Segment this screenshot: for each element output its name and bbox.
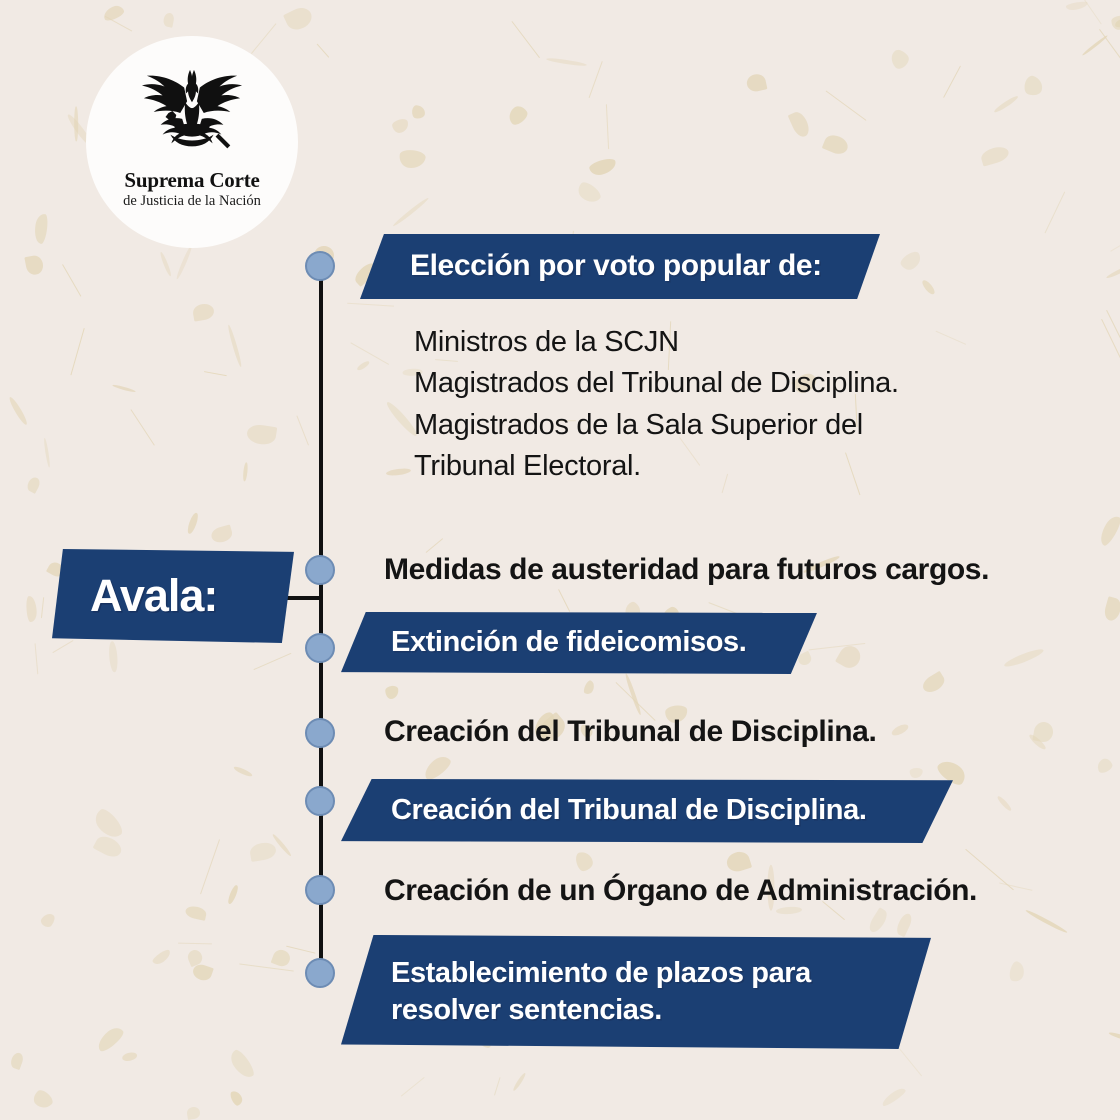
- background-fleck: [1082, 35, 1109, 57]
- timeline-item-eleccion: Elección por voto popular de:: [360, 234, 880, 299]
- background-fleck: [227, 1048, 257, 1082]
- sublist-item: Magistrados del Tribunal de Disciplina.: [414, 363, 1054, 404]
- background-fleck: [175, 244, 193, 279]
- background-fleck: [421, 753, 454, 783]
- background-fleck: [90, 806, 124, 843]
- background-fleck: [347, 302, 394, 306]
- timeline-item-medidas: Medidas de austeridad para futuros cargo…: [384, 550, 1084, 589]
- background-fleck: [71, 328, 86, 375]
- timeline-item-plazos-label: Establecimiento de plazos para resolver …: [391, 955, 811, 1029]
- timeline-dot-eleccion: [305, 251, 335, 281]
- background-fleck: [512, 1072, 527, 1091]
- background-fleck: [296, 416, 309, 446]
- background-fleck: [1099, 29, 1120, 78]
- background-fleck: [386, 467, 412, 477]
- background-fleck: [788, 110, 812, 140]
- background-fleck: [920, 279, 936, 296]
- background-fleck: [227, 325, 243, 368]
- background-fleck: [1024, 908, 1068, 934]
- timeline-item-creacion-tribunal-2-label: Creación del Tribunal de Disciplina.: [391, 792, 867, 829]
- background-fleck: [397, 148, 426, 170]
- background-fleck: [112, 384, 136, 394]
- background-fleck: [1115, 18, 1120, 28]
- background-fleck: [505, 103, 530, 127]
- background-fleck: [1078, 0, 1101, 24]
- background-fleck: [109, 641, 119, 673]
- background-fleck: [204, 371, 227, 376]
- sublist-item: Tribunal Electoral.: [414, 446, 1054, 487]
- background-fleck: [32, 213, 48, 244]
- background-fleck: [1101, 319, 1120, 363]
- background-fleck: [30, 1088, 55, 1113]
- eleccion-sublist: Ministros de la SCJN Magistrados del Tri…: [414, 322, 1054, 488]
- background-fleck: [186, 512, 200, 535]
- background-fleck: [1066, 0, 1089, 11]
- background-fleck: [52, 640, 74, 653]
- timeline-item-medidas-label: Medidas de austeridad para futuros cargo…: [384, 553, 989, 586]
- background-fleck: [101, 3, 125, 22]
- background-fleck: [511, 21, 540, 58]
- background-fleck: [1003, 646, 1045, 669]
- background-fleck: [391, 196, 429, 227]
- background-fleck: [1112, 16, 1120, 31]
- background-fleck: [130, 409, 155, 446]
- background-fleck: [200, 838, 220, 894]
- background-fleck: [1105, 310, 1120, 348]
- background-fleck: [163, 13, 176, 28]
- background-fleck: [826, 91, 867, 121]
- background-fleck: [624, 672, 643, 715]
- background-fleck: [94, 1024, 126, 1054]
- background-fleck: [25, 254, 45, 276]
- background-fleck: [39, 911, 57, 930]
- background-fleck: [392, 119, 410, 135]
- background-fleck: [997, 795, 1013, 812]
- background-fleck: [271, 833, 292, 857]
- background-fleck: [1095, 757, 1114, 775]
- background-fleck: [745, 72, 768, 93]
- background-fleck: [401, 1077, 425, 1097]
- timeline-item-plazos-line-1: Establecimiento de plazos para: [391, 957, 811, 989]
- background-fleck: [808, 642, 865, 650]
- background-fleck: [26, 475, 43, 494]
- background-fleck: [894, 912, 914, 937]
- background-fleck: [229, 1090, 244, 1108]
- background-fleck: [186, 948, 205, 967]
- background-fleck: [243, 462, 249, 481]
- background-fleck: [412, 105, 426, 120]
- timeline-item-extincion-label: Extinción de fideicomisos.: [391, 624, 746, 661]
- background-fleck: [43, 437, 51, 467]
- background-fleck: [27, 596, 38, 622]
- background-fleck: [356, 360, 371, 372]
- background-fleck: [351, 342, 390, 365]
- background-fleck: [239, 963, 294, 971]
- avala-tag: Avala:: [52, 549, 294, 643]
- background-fleck: [887, 47, 912, 72]
- background-fleck: [494, 1077, 501, 1095]
- timeline-spine: [319, 268, 323, 978]
- logo-primary-text: Suprema Corte: [124, 170, 259, 191]
- sublist-item: Magistrados de la Sala Superior del: [414, 405, 1054, 446]
- background-fleck: [93, 833, 125, 861]
- background-fleck: [159, 251, 173, 277]
- background-fleck: [9, 1051, 25, 1070]
- background-fleck: [880, 1086, 906, 1107]
- background-fleck: [1102, 597, 1120, 624]
- background-fleck: [233, 765, 253, 778]
- background-fleck: [286, 945, 315, 953]
- timeline-dot-creacion-2: [305, 786, 335, 816]
- background-fleck: [1022, 74, 1045, 98]
- background-fleck: [1096, 514, 1120, 548]
- background-fleck: [41, 597, 44, 618]
- background-fleck: [191, 962, 214, 982]
- background-fleck: [867, 907, 890, 934]
- timeline-item-eleccion-label: Elección por voto popular de:: [410, 247, 822, 285]
- timeline-item-organo-administracion: Creación de un Órgano de Administración.: [384, 871, 1104, 910]
- supreme-court-logo: Suprema Corte de Justicia de la Nación: [86, 36, 298, 248]
- background-fleck: [385, 686, 400, 700]
- background-fleck: [821, 132, 849, 157]
- background-fleck: [589, 61, 603, 98]
- background-fleck: [7, 395, 29, 426]
- background-fleck: [62, 264, 82, 297]
- background-fleck: [898, 250, 923, 273]
- background-fleck: [34, 644, 38, 675]
- timeline-dot-plazos: [305, 958, 335, 988]
- background-fleck: [1044, 192, 1065, 234]
- timeline-dot-medidas: [305, 555, 335, 585]
- background-fleck: [582, 679, 597, 696]
- infographic-canvas: Suprema Corte de Justicia de la Nación A…: [0, 0, 1120, 1120]
- timeline-item-creacion-tribunal-1-label: Creación del Tribunal de Disciplina.: [384, 715, 876, 748]
- background-fleck: [910, 768, 923, 778]
- background-fleck: [121, 1051, 138, 1062]
- background-fleck: [546, 57, 587, 67]
- timeline-item-organo-administracion-label: Creación de un Órgano de Administración.: [384, 874, 977, 907]
- background-fleck: [186, 1106, 201, 1120]
- background-fleck: [284, 4, 316, 34]
- logo-secondary-text: de Justicia de la Nación: [123, 194, 261, 209]
- background-fleck: [254, 653, 292, 670]
- background-fleck: [835, 642, 865, 672]
- background-fleck: [185, 904, 208, 920]
- background-fleck: [316, 44, 329, 58]
- timeline-dot-creacion-1: [305, 718, 335, 748]
- timeline-item-plazos: Establecimiento de plazos para resolver …: [341, 935, 931, 1049]
- timeline-item-extincion: Extinción de fideicomisos.: [341, 612, 817, 674]
- background-fleck: [1110, 219, 1120, 252]
- background-fleck: [559, 589, 571, 612]
- background-fleck: [151, 948, 172, 966]
- background-fleck: [588, 156, 618, 176]
- mexican-eagle-emblem-icon: [133, 62, 251, 166]
- background-fleck: [227, 885, 240, 906]
- background-fleck: [1105, 263, 1120, 281]
- background-fleck: [192, 302, 216, 322]
- background-fleck: [979, 145, 1010, 167]
- background-fleck: [246, 423, 278, 446]
- background-fleck: [209, 524, 234, 544]
- background-fleck: [249, 841, 277, 862]
- timeline-dot-extincion: [305, 633, 335, 663]
- background-fleck: [251, 23, 277, 54]
- background-fleck: [575, 180, 604, 208]
- avala-tag-label: Avala:: [52, 570, 217, 622]
- timeline-item-plazos-line-2: resolver sentencias.: [391, 994, 662, 1026]
- background-fleck: [993, 94, 1019, 113]
- background-fleck: [919, 671, 947, 696]
- timeline-dot-organo: [305, 875, 335, 905]
- background-fleck: [1108, 1031, 1120, 1041]
- background-fleck: [105, 16, 133, 32]
- sublist-item: Ministros de la SCJN: [414, 322, 1054, 363]
- background-fleck: [75, 107, 79, 142]
- background-fleck: [178, 942, 212, 944]
- background-fleck: [271, 948, 292, 968]
- timeline-item-creacion-tribunal-2: Creación del Tribunal de Disciplina.: [341, 779, 953, 843]
- background-fleck: [943, 65, 961, 98]
- timeline-item-creacion-tribunal-1: Creación del Tribunal de Disciplina.: [384, 712, 1084, 751]
- background-fleck: [1007, 960, 1026, 983]
- background-fleck: [606, 104, 609, 149]
- background-fleck: [574, 851, 594, 873]
